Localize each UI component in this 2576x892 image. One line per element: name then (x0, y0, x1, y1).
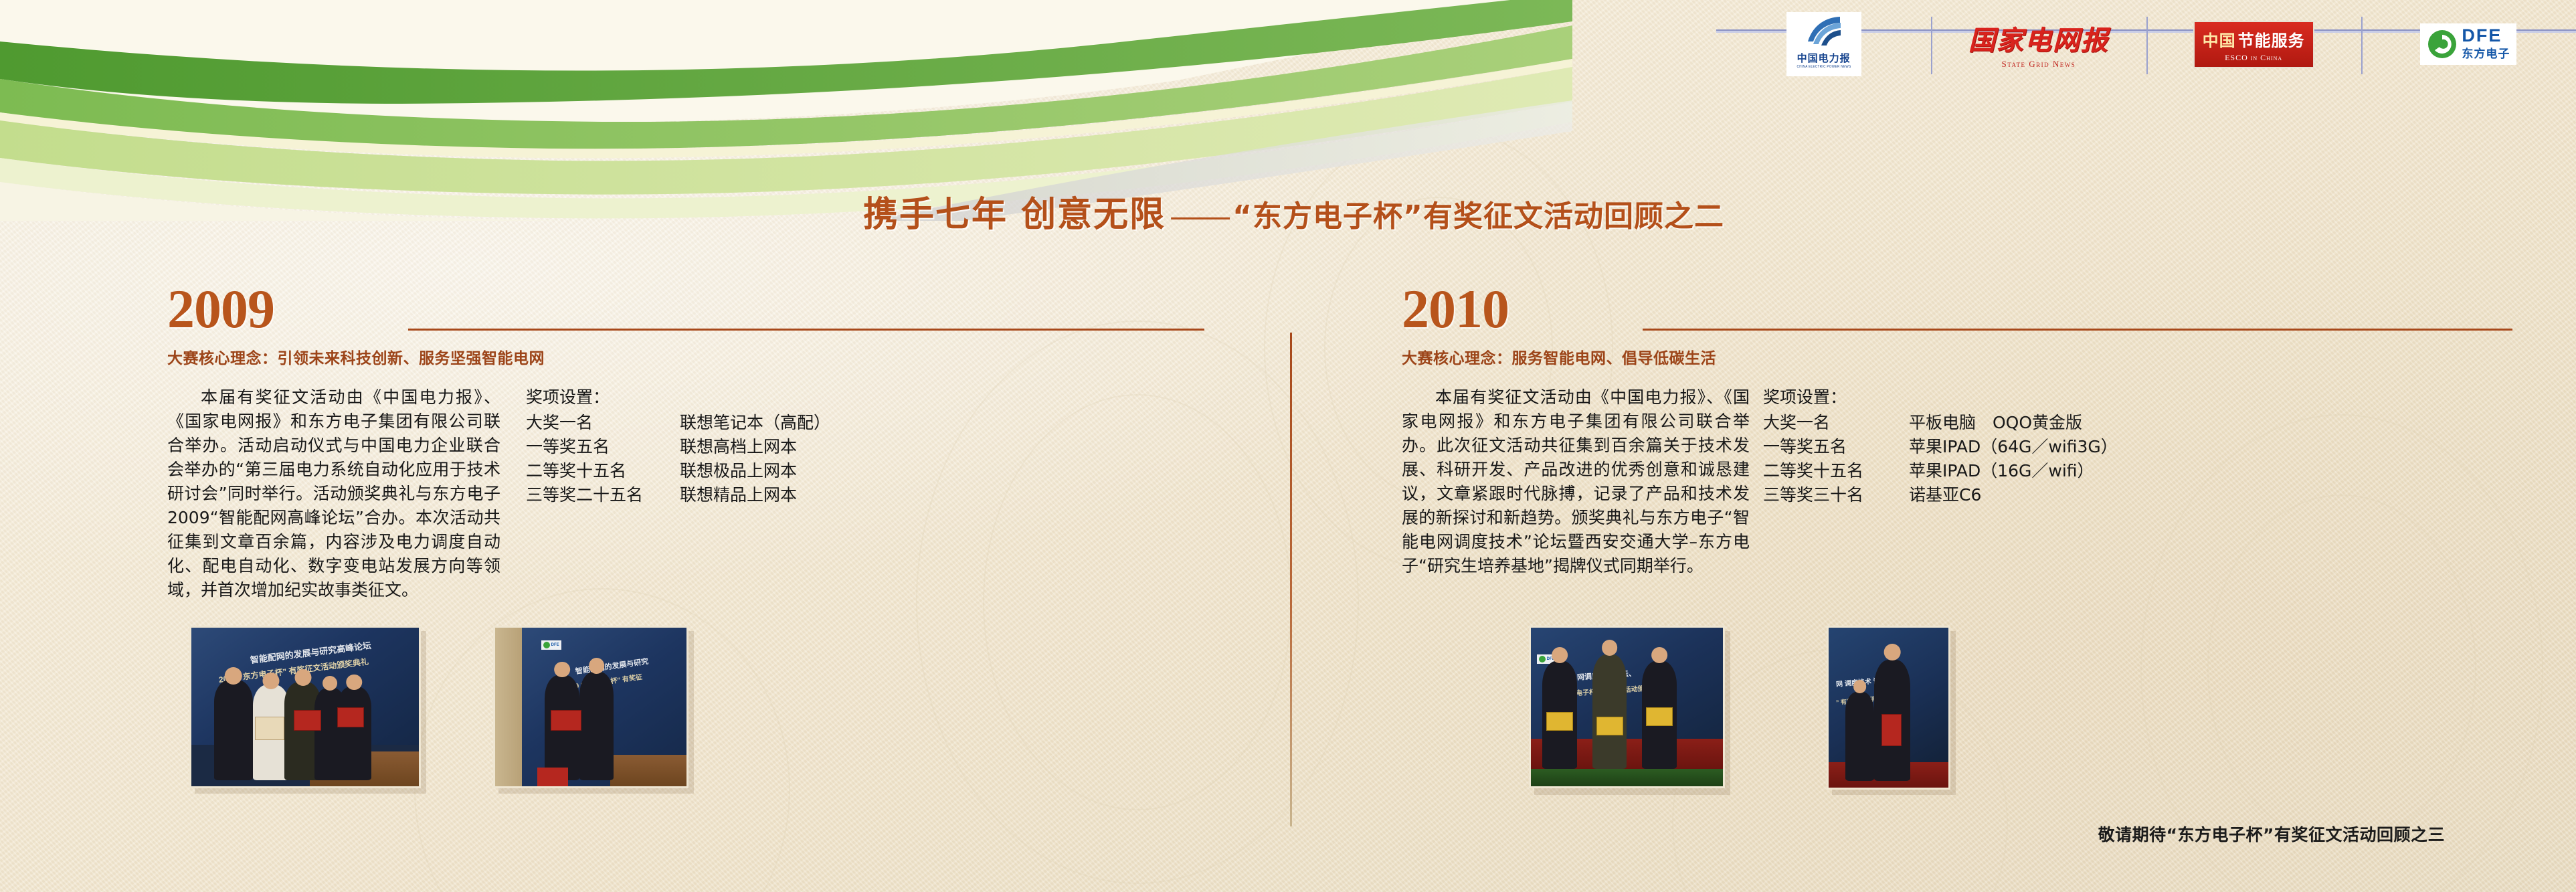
logo-dfe: DFE 东方电子 (2361, 11, 2576, 77)
person-head (346, 675, 361, 690)
page-title-part1: 携手七年 创意无限 (863, 195, 1166, 235)
person-head (1853, 680, 1867, 693)
logo-state-grid-news: 国家电网报 State Grid News (1931, 11, 2146, 77)
stage-skirt (537, 768, 568, 786)
photo-scene: 智能配网的发展与研究高峰论坛 2009 “东方电子杯” 有奖征文活动颁奖典礼 (191, 628, 419, 786)
page-title-dash: —— (1171, 198, 1227, 233)
award-prize: 联想高档上网本 (680, 435, 830, 459)
table-row: 二等奖十五名 苹果IPAD（16G／wifi） (1763, 459, 2118, 483)
table-row: 三等奖三十名 诺基亚C6 (1763, 483, 2118, 507)
esco-cn-label: 中国节能服务 (2203, 27, 2305, 51)
year-rule-2009 (408, 329, 1204, 331)
person-head (589, 658, 605, 674)
person-head (554, 662, 570, 678)
award-rank: 三等奖三十名 (1763, 483, 1909, 507)
stage-wall (495, 628, 522, 786)
awards-table-2010: 大奖一名 平板电脑 OQO黄金版 一等奖五名 苹果IPAD（64G／wifi3G… (1763, 411, 2118, 507)
year-label-2010: 2010 (1402, 281, 1509, 337)
person (579, 672, 614, 780)
award-rank: 二等奖十五名 (526, 459, 680, 483)
year-label-2009: 2009 (167, 281, 274, 337)
award-prize: 联想极品上网本 (680, 459, 830, 483)
award-rank: 二等奖十五名 (1763, 459, 1909, 483)
table-row: 大奖一名 平板电脑 OQO黄金版 (1763, 411, 2118, 435)
awards-title-2009: 奖项设置： (526, 385, 830, 409)
sgn-cn-label: 国家电网报 (1968, 19, 2109, 58)
column-divider (1290, 333, 1292, 826)
award-box (255, 717, 284, 741)
table-row: 一等奖五名 苹果IPAD（64G／wifi3G） (1763, 435, 2118, 459)
award-box (1596, 717, 1623, 735)
footer-note: 敬请期待“东方电子杯”有奖征文活动回顾之三 (2098, 822, 2445, 846)
body-text-2009: 本届有奖征文活动由《中国电力报》、《国家电网报》和东方电子集团有限公司联合举办。… (167, 385, 500, 602)
photo-group-2009: 智能配网的发展与研究高峰论坛 2009 “东方电子杯” 有奖征文活动颁奖典礼 (189, 626, 688, 788)
person-head (1651, 647, 1667, 663)
logo-china-electric-power-news: 中国电力报 CHINA ELECTRIC POWER NEWS (1716, 11, 1931, 77)
dfe-cn-label: 东方电子 (2462, 44, 2510, 61)
photo-scene: DFE 网调度技术论坛、 方电子杯 有奖征文活动颁奖典礼 (1531, 628, 1723, 786)
award-box (337, 707, 365, 728)
concept-2009: 大赛核心理念：引领未来科技创新、服务坚强智能电网 (167, 345, 1117, 368)
award-box (294, 710, 321, 731)
person-head (294, 669, 311, 686)
award-certificate (1881, 714, 1902, 746)
person-head (323, 676, 337, 691)
photo-2010-award-single: 网 调度技术 论 ” 有奖征文 “研究生联合 (1827, 626, 1950, 790)
person-head (1552, 647, 1568, 663)
poster-canvas: 中国电力报 CHINA ELECTRIC POWER NEWS 国家电网报 St… (0, 0, 2576, 892)
body-paragraph-2009: 本届有奖征文活动由《中国电力报》、《国家电网报》和东方电子集团有限公司联合举办。… (167, 385, 500, 602)
year-header-2010: 2010 (1402, 281, 2405, 340)
cepn-cn-label: 中国电力报 (1797, 51, 1851, 65)
photo-2009-award-pair: DFE 智能配网的发展与研究 2009 “东方电子杯” 有奖征 (493, 626, 688, 788)
awards-table-2009: 大奖一名 联想笔记本（高配） 一等奖五名 联想高档上网本 二等奖十五名 联想极品… (526, 411, 830, 507)
photo-image: DFE 智能配网的发展与研究 2009 “东方电子杯” 有奖征 (493, 626, 688, 788)
award-rank: 一等奖五名 (526, 435, 680, 459)
award-prize: 诺基亚C6 (1909, 483, 2118, 507)
stage-desk (610, 755, 686, 786)
award-box (1646, 707, 1673, 726)
dfe-en-label: DFE (2462, 27, 2510, 45)
table-row: 一等奖五名 联想高档上网本 (526, 435, 830, 459)
dfe-logo-icon: DFE (541, 640, 561, 650)
esco-cn-prefix: 中国 (2203, 27, 2236, 51)
year-header-2009: 2009 (167, 281, 1117, 340)
awards-2010: 奖项设置： 大奖一名 平板电脑 OQO黄金版 一等奖五名 苹果IPAD（64G／… (1763, 385, 2118, 578)
award-rank: 三等奖二十五名 (526, 483, 680, 507)
stage-plants (1531, 769, 1723, 786)
awards-2009: 奖项设置： 大奖一名 联想笔记本（高配） 一等奖五名 联想高档上网本 二等奖十五… (526, 385, 830, 602)
table-row: 三等奖二十五名 联想精品上网本 (526, 483, 830, 507)
page-title-part2: “东方电子杯”有奖征文活动回顾之二 (1232, 199, 1724, 234)
photo-2009-award-group: 智能配网的发展与研究高峰论坛 2009 “东方电子杯” 有奖征文活动颁奖典礼 (189, 626, 421, 788)
award-box (551, 710, 581, 731)
award-prize: 苹果IPAD（64G／wifi3G） (1909, 435, 2118, 459)
concept-2010: 大赛核心理念：服务智能电网、倡导低碳生活 (1402, 345, 2405, 368)
award-rank: 大奖一名 (526, 411, 680, 435)
esco-en-label: ESCO in China (2203, 53, 2305, 63)
section-2010: 2010 大赛核心理念：服务智能电网、倡导低碳生活 本届有奖征文活动由《中国电力… (1402, 281, 2405, 578)
page-title: 携手七年 创意无限——“东方电子杯”有奖征文活动回顾之二 (863, 186, 2382, 234)
logo-esco-in-china: 中国节能服务 ESCO in China (2146, 11, 2361, 77)
photo-scene: DFE 智能配网的发展与研究 2009 “东方电子杯” 有奖征 (495, 628, 686, 786)
photo-2010-award-group: DFE 网调度技术论坛、 方电子杯 有奖征文活动颁奖典礼 (1529, 626, 1725, 790)
cepn-en-label: CHINA ELECTRIC POWER NEWS (1797, 65, 1851, 69)
photo-scene: 网 调度技术 论 ” 有奖征文 “研究生联合 (1829, 628, 1948, 788)
person (1592, 654, 1627, 769)
person (214, 680, 253, 780)
award-prize: 联想精品上网本 (680, 483, 830, 507)
section-2009: 2009 大赛核心理念：引领未来科技创新、服务坚强智能电网 本届有奖征文活动由《… (167, 281, 1117, 602)
award-box (1546, 712, 1573, 731)
table-row: 二等奖十五名 联想极品上网本 (526, 459, 830, 483)
person-head (1602, 640, 1618, 656)
person (337, 687, 371, 780)
award-rank: 大奖一名 (1763, 411, 1909, 435)
photo-image: 网 调度技术 论 ” 有奖征文 “研究生联合 (1827, 626, 1950, 790)
photo-group-2010: DFE 网调度技术论坛、 方电子杯 有奖征文活动颁奖典礼 (1529, 626, 1950, 790)
photo-image: DFE 网调度技术论坛、 方电子杯 有奖征文活动颁奖典礼 (1529, 626, 1725, 788)
sponsor-logo-bar: 中国电力报 CHINA ELECTRIC POWER NEWS 国家电网报 St… (1716, 0, 2576, 88)
award-rank: 一等奖五名 (1763, 435, 1909, 459)
person-head (262, 673, 279, 689)
cepn-mark-icon (1804, 15, 1844, 50)
sgn-en-label: State Grid News (1968, 59, 2109, 70)
person-head (225, 667, 243, 685)
person-head (1884, 644, 1901, 660)
body-text-2010: 本届有奖征文活动由《中国电力报》、《国家电网报》和东方电子集团有限公司联合举办。… (1402, 385, 1750, 578)
body-paragraph-2010: 本届有奖征文活动由《中国电力报》、《国家电网报》和东方电子集团有限公司联合举办。… (1402, 385, 1750, 578)
award-prize: 联想笔记本（高配） (680, 411, 830, 435)
award-prize: 平板电脑 OQO黄金版 (1909, 411, 2118, 435)
table-row: 大奖一名 联想笔记本（高配） (526, 411, 830, 435)
person (1845, 692, 1874, 782)
award-prize: 苹果IPAD（16G／wifi） (1909, 459, 2118, 483)
awards-title-2010: 奖项设置： (1763, 385, 2118, 409)
year-rule-2010 (1643, 329, 2512, 331)
photo-image: 智能配网的发展与研究高峰论坛 2009 “东方电子杯” 有奖征文活动颁奖典礼 (189, 626, 421, 788)
dfe-swirl-icon (2427, 29, 2458, 60)
